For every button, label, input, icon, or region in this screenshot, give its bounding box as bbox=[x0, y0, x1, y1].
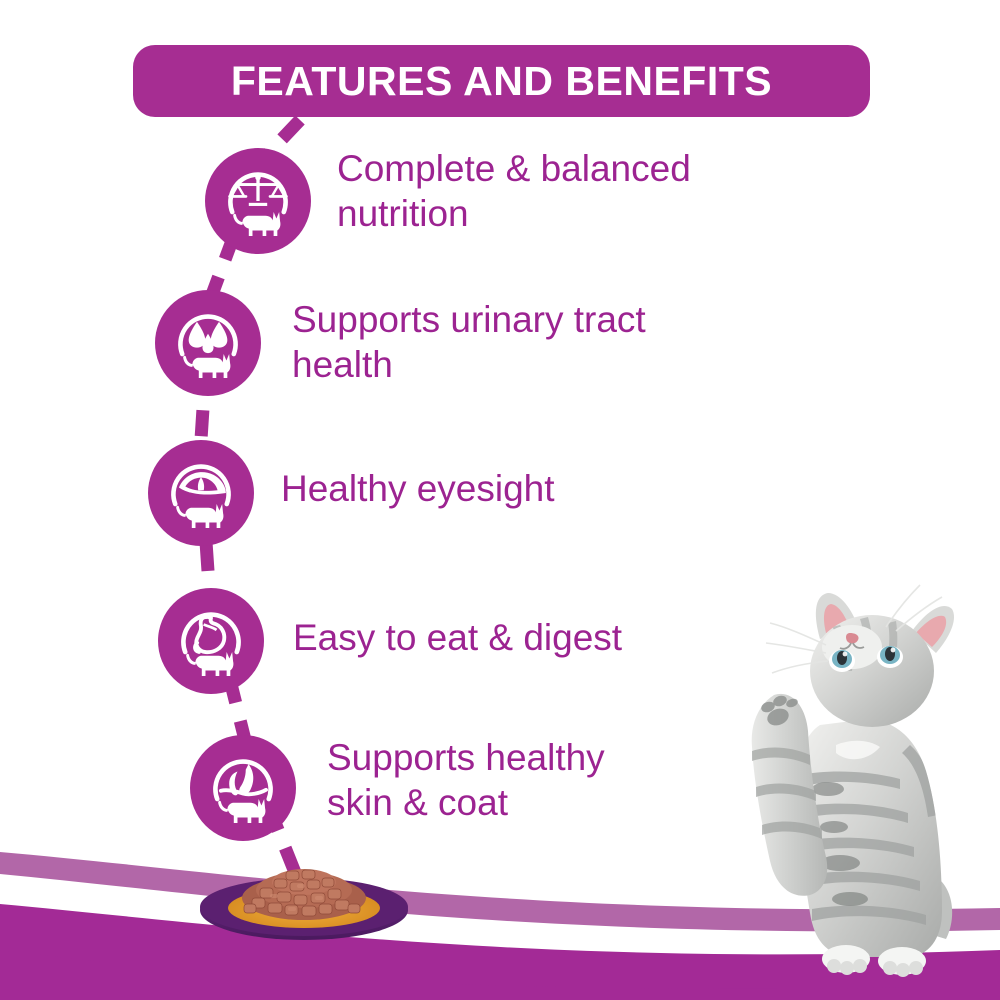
balance-scale-cat-icon bbox=[205, 148, 311, 254]
stomach-cat-icon bbox=[158, 588, 264, 694]
water-droplets-cat-icon bbox=[155, 290, 261, 396]
feature-label: Complete & balanced nutrition bbox=[337, 146, 807, 236]
cat-eye-icon bbox=[148, 440, 254, 546]
feature-label: Healthy eyesight bbox=[281, 466, 751, 511]
promo-canvas: FEATURES AND BENEFITS bbox=[0, 0, 1000, 1000]
cat-food-bowl bbox=[198, 860, 410, 942]
features-benefits-banner: FEATURES AND BENEFITS bbox=[133, 45, 870, 117]
feature-label: Supports urinary tract health bbox=[292, 297, 762, 387]
feature-label: Easy to eat & digest bbox=[293, 615, 763, 660]
page-title: FEATURES AND BENEFITS bbox=[231, 58, 772, 105]
kitten-photo bbox=[700, 575, 990, 995]
